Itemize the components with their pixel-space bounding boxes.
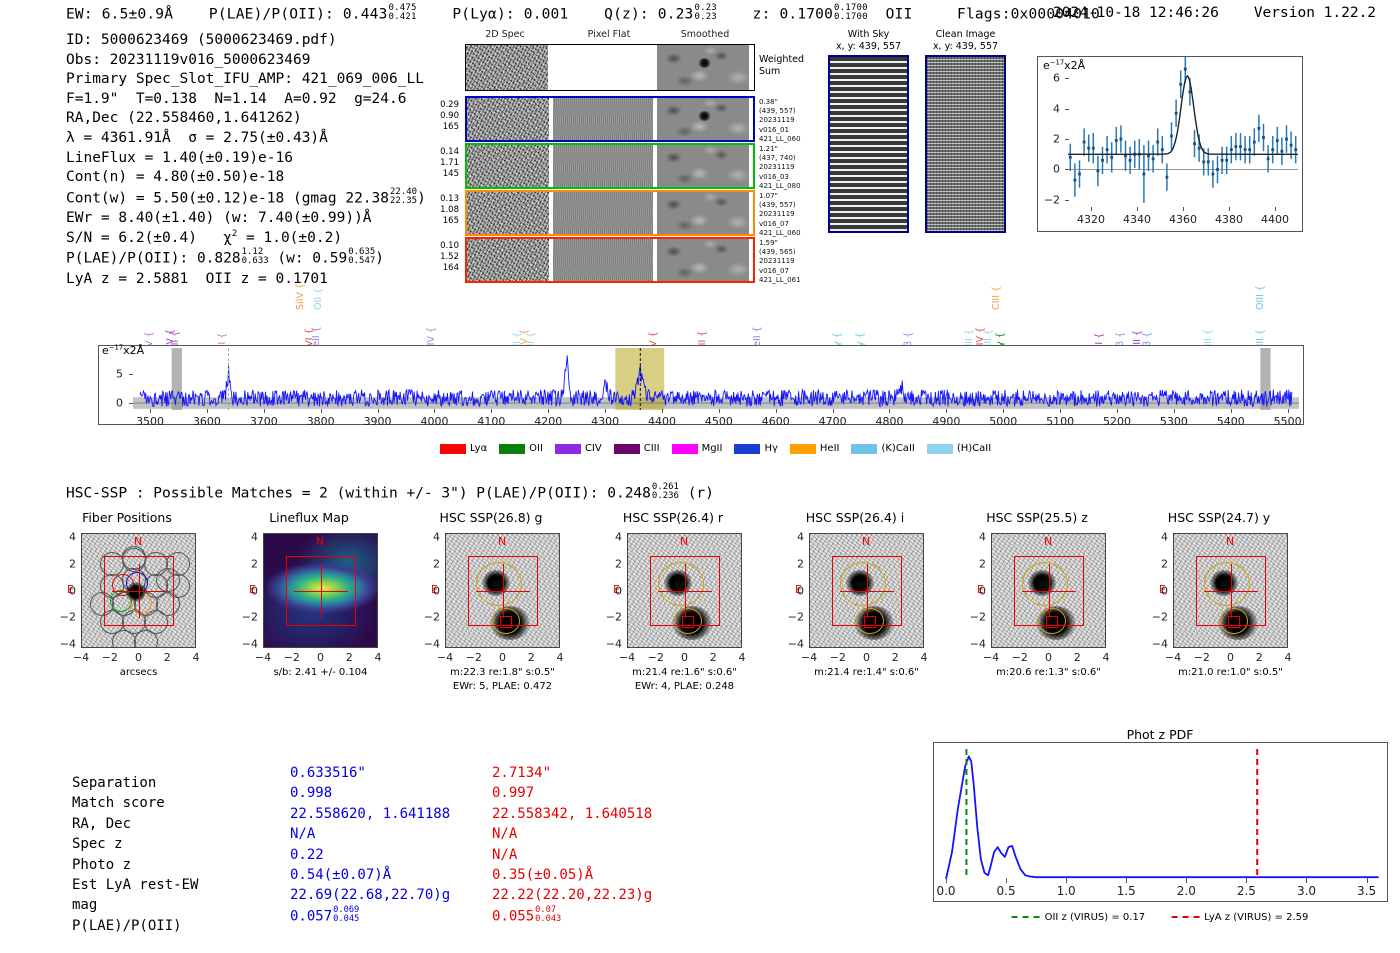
tick-mark — [129, 403, 133, 404]
tick-mark — [1137, 207, 1138, 211]
panel-title-2dspec: 2D Spec — [485, 29, 525, 40]
phot-z-pdf-title: Phot z PDF — [1127, 727, 1194, 742]
tick-mark — [1306, 878, 1307, 883]
tick-label: 4700 — [819, 415, 847, 428]
tick-label: 3500 — [136, 415, 164, 428]
legend-label: OII z (VIRUS) = 0.17 — [1045, 912, 1146, 923]
tick-mark — [378, 409, 379, 413]
phot-z-pdf-plot: 0.00.51.01.52.02.53.03.5 — [933, 742, 1388, 902]
tick-label: 0 — [135, 651, 142, 664]
tick-label: −4 — [801, 651, 817, 664]
crosshair-horizontal — [840, 591, 894, 592]
match-table-row-label: Separation — [72, 773, 282, 793]
tick-label: 4 — [600, 531, 622, 544]
tick-label: 2 — [964, 557, 986, 570]
tick-label: 2 — [892, 651, 899, 664]
tick-mark — [1186, 878, 1187, 883]
timestamp: 2024-10-18 12:46:26 — [1053, 5, 1219, 21]
tick-label: 4400 — [648, 415, 676, 428]
tick-mark — [833, 409, 834, 413]
tick-label: 0 — [600, 584, 622, 597]
legend-swatch — [614, 444, 640, 454]
legend-label: CIV — [585, 443, 602, 454]
header-qz-range: 0.230.23 — [694, 4, 716, 22]
legend-dash-swatch — [1012, 916, 1040, 918]
spectral-line-label: SiIV { — [295, 283, 306, 310]
tick-label: −4 — [600, 638, 622, 651]
tick-label: 0 — [863, 651, 870, 664]
cutout-caption-2: EWr: 4, PLAE: 0.248 — [627, 680, 742, 693]
tick-label: 4600 — [762, 415, 790, 428]
tick-mark — [889, 409, 890, 413]
north-label: N — [680, 535, 688, 548]
fiber-row-stats: 0.131.08165 — [417, 194, 459, 227]
tick-label: 1.5 — [1117, 884, 1136, 898]
info-sn-chi2: S/N = 6.2(±0.4) χ2 = 1.0(±0.2) — [66, 229, 426, 249]
crosshair-horizontal — [1204, 591, 1258, 592]
cutout-image[interactable] — [627, 533, 742, 648]
match-table-cell: 22.558342, 1.640518 — [492, 804, 652, 824]
cutout-title: Lineflux Map — [269, 510, 349, 525]
tick-label: 0 — [681, 651, 688, 664]
match-table-row-label: RA, Dec — [72, 814, 282, 834]
cutout-image[interactable] — [263, 533, 378, 648]
spec2d-fiber-row — [465, 237, 755, 283]
cutout-title: HSC SSP(26.8) g — [440, 510, 543, 525]
legend-swatch — [440, 444, 466, 454]
spec2d-fiber-row — [465, 143, 755, 189]
spec2d-weighted-sum-row — [465, 44, 755, 91]
cutout-caption-2: EWr: 5, PLAE: 0.472 — [445, 680, 560, 693]
tile-2dspec — [467, 145, 549, 187]
north-label: N — [316, 535, 324, 548]
tick-mark — [321, 409, 322, 413]
cutout-panel[interactable]: Lineflux MapNE−4−2024420−2−4s/b: 2.41 +/… — [240, 533, 378, 681]
match-table-cell: N/A — [492, 824, 652, 844]
tick-mark — [605, 409, 606, 413]
header-ew: EW: 6.5±0.9Å — [66, 7, 173, 23]
match-table-cell: 0.998 — [290, 783, 450, 803]
tick-mark — [776, 409, 777, 413]
cutout-image[interactable] — [991, 533, 1106, 648]
tick-mark — [434, 409, 435, 413]
tick-label: −4 — [73, 651, 89, 664]
cutout-caption-1: m:21.4 re:1.4" s:0.6" — [809, 666, 924, 679]
tick-label: −2 — [1036, 193, 1060, 206]
tick-label: 5500 — [1274, 415, 1302, 428]
info-plae: P(LAE)/P(OII): 0.8281.120.633 (w: 0.590.… — [66, 248, 426, 269]
tick-label: 2 — [710, 651, 717, 664]
tick-label: 4340 — [1123, 213, 1151, 226]
tile-pixelflat — [553, 98, 654, 140]
north-label: N — [498, 535, 506, 548]
cutout-image[interactable] — [445, 533, 560, 648]
cutout-image[interactable] — [81, 533, 196, 648]
match-table-row-label: Photo z — [72, 855, 282, 875]
match-table-cell: N/A — [290, 824, 450, 844]
cutout-panel[interactable]: HSC SSP(26.4) iNE−4−2024420−2−4m:21.4 re… — [786, 533, 924, 681]
legend-label: HeII — [820, 443, 840, 454]
tick-label: −2 — [236, 611, 258, 624]
header-z-type: OII — [886, 7, 913, 23]
full-spectrum-legend: LyαOIICIVCIIIMgIIHγHeII(K)CaII(H)CaII — [440, 443, 1003, 455]
legend-dash-swatch — [1171, 916, 1199, 918]
cutout-title: HSC SSP(24.7) y — [1168, 510, 1270, 525]
tick-label: −4 — [1165, 651, 1181, 664]
fiber-row-info: 1.59"(439, 565)20231119v016_07421_LL_061 — [759, 239, 801, 285]
phot-z-pdf-legend: OII z (VIRUS) = 0.17LyA z (VIRUS) = 2.59 — [1012, 912, 1309, 923]
tick-mark — [1231, 409, 1232, 413]
tick-label: 2.5 — [1237, 884, 1256, 898]
tick-label: 2 — [54, 557, 76, 570]
tick-label: −2 — [466, 651, 482, 664]
match-table-cell: 22.22(22.20,22.23)g — [492, 885, 652, 905]
tick-label: 4 — [418, 531, 440, 544]
tick-label: −4 — [255, 651, 271, 664]
clean-image-caption: Clean Image x, y: 439, 557 — [925, 29, 1006, 53]
match-table-cell: N/A — [492, 845, 652, 865]
tick-label: 4400 — [1261, 213, 1289, 226]
hsc-ssp-filter: (r) — [688, 486, 714, 502]
info-primary-slot: Primary Spec_Slot_IFU_AMP: 421_069_006_L… — [66, 70, 426, 90]
hsc-ssp-plae-range: 0.2610.236 — [652, 483, 679, 501]
tick-label: −4 — [418, 638, 440, 651]
tick-label: 4100 — [477, 415, 505, 428]
tick-mark — [719, 409, 720, 413]
tick-label: 3800 — [307, 415, 335, 428]
tick-label: 4 — [193, 651, 200, 664]
phot-z-pdf-svg — [934, 743, 1387, 901]
tick-label: 3.5 — [1357, 884, 1376, 898]
legend-swatch — [927, 444, 953, 454]
cutout-caption-1: m:21.4 re:1.6" s:0.6" — [627, 666, 742, 679]
tile-pixelflat — [553, 145, 654, 187]
cutout-panel[interactable]: HSC SSP(26.4) rNE−4−2024420−2−4m:21.4 re… — [604, 533, 742, 681]
tick-label: 5400 — [1217, 415, 1245, 428]
legend-label: MgII — [702, 443, 723, 454]
tick-mark — [1065, 139, 1069, 140]
header-summary-line: EW: 6.5±0.9Å P(LAE)/P(OII): 0.4430.4750.… — [66, 4, 1100, 23]
crosshair-horizontal — [658, 591, 712, 592]
tick-mark — [129, 374, 133, 375]
match-table-cell: 22.558620, 1.641188 — [290, 804, 450, 824]
cutout-title: HSC SSP(26.4) r — [623, 510, 723, 525]
full-spectrum-svg — [99, 346, 1303, 424]
header-plya: P(Lyα): 0.001 — [452, 7, 568, 23]
tick-mark — [548, 409, 549, 413]
tick-label: 4320 — [1077, 213, 1105, 226]
tick-label: −4 — [54, 638, 76, 651]
tick-mark — [1367, 878, 1368, 883]
tile-smoothed — [657, 192, 749, 234]
tick-label: 0 — [1146, 584, 1168, 597]
crosshair-horizontal — [294, 591, 348, 592]
fiber-row-info: 0.38"(439, 557)20231119v016_01421_LL_060 — [759, 98, 801, 144]
spectral-line-label: OII { — [313, 288, 324, 310]
tile-2dspec — [467, 239, 549, 281]
match-table-cell: 0.35(±0.05)Å — [492, 865, 652, 885]
header-timestamp-version: 2024-10-18 12:46:26 Version 1.22.2 — [1053, 5, 1376, 21]
legend-label: CIII — [644, 443, 660, 454]
cutout-panel[interactable]: HSC SSP(25.5) zNE−4−2024420−2−4m:20.6 re… — [968, 533, 1106, 681]
tick-mark — [1060, 409, 1061, 413]
tick-label: 5000 — [989, 415, 1017, 428]
info-conditions: F=1.9" T=0.138 N=1.14 A=0.92 g=24.6 — [66, 90, 426, 110]
tick-label: 4200 — [534, 415, 562, 428]
tick-label: 2 — [164, 651, 171, 664]
match-table-cell-plae: 0.0550.070.043 — [492, 906, 652, 927]
tick-label: 4 — [1103, 651, 1110, 664]
tick-mark — [946, 409, 947, 413]
tick-label: 4 — [236, 531, 258, 544]
tile-smoothed — [657, 98, 749, 140]
legend-swatch — [555, 444, 581, 454]
panel-title-pixelflat: Pixel Flat — [588, 29, 631, 40]
cutout-title: HSC SSP(26.4) i — [806, 510, 904, 525]
tile-2dspec — [467, 98, 549, 140]
tick-label: 0 — [499, 651, 506, 664]
tick-label: −4 — [236, 638, 258, 651]
tile-2dspec — [467, 192, 549, 234]
tick-mark — [1126, 878, 1127, 883]
tick-label: 2 — [1036, 133, 1060, 146]
tick-label: 0.0 — [936, 884, 955, 898]
tick-mark — [1091, 207, 1092, 211]
tick-label: 5300 — [1160, 415, 1188, 428]
tick-label: 2 — [1256, 651, 1263, 664]
tick-label: 2 — [782, 557, 804, 570]
legend-label: (K)CaII — [881, 443, 914, 454]
tick-label: 5 — [95, 368, 123, 381]
info-obs: Obs: 20231119v016_5000623469 — [66, 51, 426, 71]
with-sky-image — [828, 55, 909, 233]
legend-label: LyA z (VIRUS) = 2.59 — [1204, 912, 1308, 923]
match-table-col-1: 0.633516"0.99822.558620, 1.641188N/A0.22… — [290, 763, 450, 927]
tick-label: 4 — [1146, 531, 1168, 544]
tick-label: −2 — [600, 611, 622, 624]
legend-swatch — [734, 444, 760, 454]
cutout-panel[interactable]: HSC SSP(26.8) gNE−4−2024420−2−4m:22.3 re… — [422, 533, 560, 681]
tile-pixelflat — [553, 192, 654, 234]
match-table-col-2: 2.7134"0.99722.558342, 1.640518N/AN/A0.3… — [492, 763, 652, 927]
tick-label: 4 — [1285, 651, 1292, 664]
tick-mark — [1183, 207, 1184, 211]
tick-label: 3700 — [250, 415, 278, 428]
tick-label: 4 — [1036, 102, 1060, 115]
header-plae-range: 0.4750.421 — [389, 4, 417, 22]
tick-label: 2 — [346, 651, 353, 664]
tick-label: 0 — [54, 584, 76, 597]
spec2d-fiber-row — [465, 96, 755, 142]
tick-label: −2 — [102, 651, 118, 664]
crosshair-horizontal — [112, 591, 166, 592]
tick-label: 0 — [782, 584, 804, 597]
tick-mark — [1065, 200, 1069, 201]
header-z: z: 0.1700 — [753, 7, 833, 23]
match-table-row-label: Match score — [72, 793, 282, 813]
tick-label: 4300 — [591, 415, 619, 428]
tick-label: −4 — [983, 651, 999, 664]
spec2d-mosaic: 2D Spec Pixel Flat Smoothed Weighted Sum… — [465, 30, 755, 258]
tick-mark — [1065, 78, 1069, 79]
tick-mark — [207, 409, 208, 413]
with-sky-caption: With Sky x, y: 439, 557 — [828, 29, 909, 53]
tick-label: −2 — [782, 611, 804, 624]
tick-label: 4 — [557, 651, 564, 664]
tick-label: 0 — [1036, 163, 1060, 176]
tick-mark — [150, 409, 151, 413]
tick-label: 0 — [1227, 651, 1234, 664]
north-label: N — [1044, 535, 1052, 548]
tick-label: −2 — [284, 651, 300, 664]
tick-label: 4 — [54, 531, 76, 544]
legend-label: Lyα — [470, 443, 487, 454]
cutout-image[interactable] — [1173, 533, 1288, 648]
weighted-sum-label: Weighted Sum — [759, 54, 804, 78]
legend-swatch — [672, 444, 698, 454]
tick-label: 0 — [1045, 651, 1052, 664]
tick-mark — [491, 409, 492, 413]
tick-label: −2 — [964, 611, 986, 624]
fiber-row-info: 1.21"(437, 740)20231119v016_03421_LL_080 — [759, 145, 801, 191]
tick-mark — [1229, 207, 1230, 211]
info-radec: RA,Dec (22.558460,1.641262) — [66, 109, 426, 129]
hsc-ssp-header: HSC-SSP : Possible Matches = 2 (within +… — [66, 483, 714, 502]
fiber-row-info: 1.07"(439, 557)20231119v016_07421_LL_060 — [759, 192, 801, 238]
match-table-row-label: Est LyA rest-EW — [72, 875, 282, 895]
cutout-title: HSC SSP(25.5) z — [986, 510, 1088, 525]
spectral-line-label: OIII { — [1255, 285, 1266, 310]
tile-smoothed — [657, 145, 749, 187]
tick-label: −2 — [1194, 651, 1210, 664]
tick-label: 0 — [95, 397, 123, 410]
cutout-caption-1: arcsecs — [81, 666, 196, 679]
tick-mark — [1065, 109, 1069, 110]
tick-label: 0 — [418, 584, 440, 597]
cutout-panel[interactable]: HSC SSP(24.7) yNE−4−2024420−2−4m:21.0 re… — [1150, 533, 1288, 681]
tick-label: 4360 — [1169, 213, 1197, 226]
tick-mark — [1246, 878, 1247, 883]
north-label: N — [1226, 535, 1234, 548]
tick-label: 4 — [921, 651, 928, 664]
tick-label: −2 — [1012, 651, 1028, 664]
hsc-ssp-header-text: HSC-SSP : Possible Matches = 2 (within +… — [66, 486, 651, 502]
fiber-row-stats: 0.101.52164 — [417, 241, 459, 274]
tick-mark — [1288, 409, 1289, 413]
cutout-caption-1: m:20.6 re:1.3" s:0.6" — [991, 666, 1106, 679]
tick-label: 3600 — [193, 415, 221, 428]
cutout-title: Fiber Positions — [82, 510, 172, 525]
tile-smoothed-sum — [657, 45, 749, 90]
legend-swatch — [499, 444, 525, 454]
info-cont-narrow: Cont(n) = 4.80(±0.50)e-18 — [66, 168, 426, 188]
tile-pixelflat-sum — [552, 45, 653, 90]
legend-swatch — [790, 444, 816, 454]
legend-swatch — [851, 444, 877, 454]
tick-label: 2 — [418, 557, 440, 570]
full-spectrum-plot: e−17x2Å 35003600370038003900400041004200… — [98, 345, 1304, 425]
tick-label: 4500 — [705, 415, 733, 428]
tick-label: −2 — [418, 611, 440, 624]
tick-mark — [662, 409, 663, 413]
tick-label: 5200 — [1103, 415, 1131, 428]
tick-label: 3900 — [364, 415, 392, 428]
match-table-cell: 2.7134" — [492, 763, 652, 783]
tick-mark — [1275, 207, 1276, 211]
tick-label: 0 — [317, 651, 324, 664]
tick-mark — [1066, 878, 1067, 883]
match-table-row-label: mag — [72, 895, 282, 915]
legend-label: Hγ — [764, 443, 777, 454]
tick-label: −4 — [619, 651, 635, 664]
tile-smoothed — [657, 239, 749, 281]
info-ewr: EWr = 8.40(±1.40) (w: 7.40(±0.99))Å — [66, 209, 426, 229]
version-label: Version 1.22.2 — [1254, 5, 1376, 21]
tick-label: 6 — [1036, 72, 1060, 85]
tick-label: 0.5 — [997, 884, 1016, 898]
tick-label: 2 — [236, 557, 258, 570]
tick-label: 2 — [600, 557, 622, 570]
tick-label: −2 — [648, 651, 664, 664]
tick-label: 4380 — [1215, 213, 1243, 226]
fiber-circle — [112, 630, 136, 648]
match-table-cell: 0.22 — [290, 845, 450, 865]
tick-mark — [1003, 409, 1004, 413]
tick-label: −4 — [782, 638, 804, 651]
line-fit-plot: e−17x2Å 43204340436043804400 −20246 — [1037, 56, 1303, 232]
tick-label: 1.0 — [1057, 884, 1076, 898]
tick-mark — [946, 878, 947, 883]
match-table-row-label: Spec z — [72, 834, 282, 854]
cutout-image[interactable] — [809, 533, 924, 648]
header-qz: Q(z): 0.23 — [604, 7, 693, 23]
fiber-row-stats: 0.141.71145 — [417, 147, 459, 180]
crosshair-horizontal — [1022, 591, 1076, 592]
tick-mark — [1174, 409, 1175, 413]
north-label: N — [134, 535, 142, 548]
line-fit-unit-label: e−17x2Å — [1043, 59, 1085, 72]
clean-image — [925, 55, 1006, 233]
tick-label: 2 — [1146, 557, 1168, 570]
legend-label: (H)CaII — [957, 443, 991, 454]
tick-label: −4 — [437, 651, 453, 664]
tick-label: 4 — [964, 531, 986, 544]
full-spectrum-unit-label: e−17x2Å — [102, 344, 144, 357]
cutout-panel[interactable]: Fiber PositionsNE−4−2024420−2−4arcsecs — [58, 533, 196, 681]
tick-label: 0 — [964, 584, 986, 597]
match-table-row-label: P(LAE)/P(OII) — [72, 916, 282, 936]
info-id: ID: 5000623469 (5000623469.pdf) — [66, 31, 426, 51]
spec2d-fiber-row — [465, 190, 755, 236]
info-lineflux: LineFlux = 1.40(±0.19)e-16 — [66, 149, 426, 169]
tick-label: 2 — [528, 651, 535, 664]
tick-label: 4 — [375, 651, 382, 664]
info-cont-wide: Cont(w) = 5.50(±0.12)e-18 (gmag 22.3822.… — [66, 188, 426, 209]
legend-label: OII — [529, 443, 543, 454]
match-table-cell-plae: 0.0570.0690.045 — [290, 906, 450, 927]
tick-label: 4900 — [932, 415, 960, 428]
tick-label: 3.0 — [1297, 884, 1316, 898]
tick-mark — [264, 409, 265, 413]
tick-label: −2 — [830, 651, 846, 664]
cutout-caption-1: m:21.0 re:1.0" s:0.5" — [1173, 666, 1288, 679]
tick-label: 4000 — [420, 415, 448, 428]
match-table-cell: 0.997 — [492, 783, 652, 803]
cutout-caption-1: m:22.3 re:1.8" s:0.5" — [445, 666, 560, 679]
match-table-labels: SeparationMatch scoreRA, DecSpec zPhoto … — [72, 773, 282, 936]
crosshair-horizontal — [476, 591, 530, 592]
tile-2dspec-sum — [466, 45, 548, 90]
